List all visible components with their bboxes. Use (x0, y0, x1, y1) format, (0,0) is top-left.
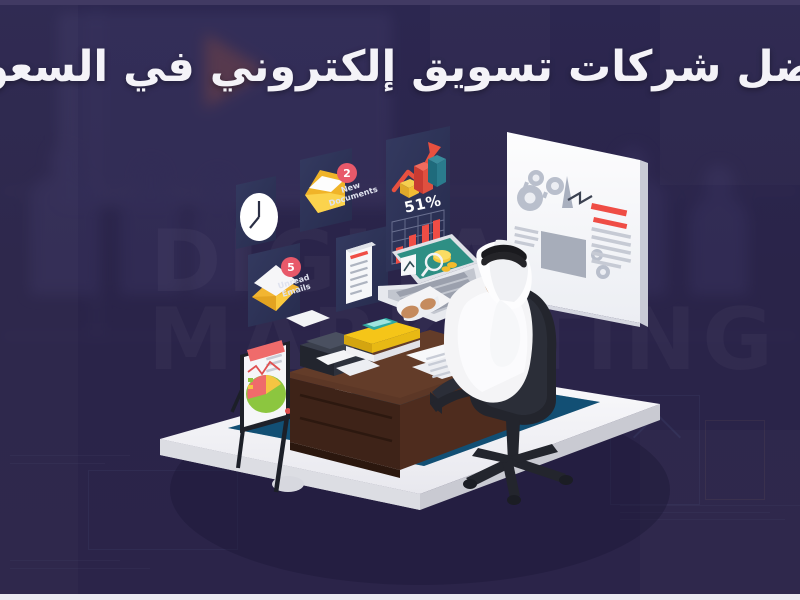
bottom-accent-band (0, 594, 800, 600)
banner-canvas: DIGITAL MARKETING أفضل شركات تسويق إلكتر… (0, 0, 800, 600)
email-badge: 5 (281, 257, 301, 277)
isometric-scene (0, 0, 800, 600)
iso-bar-teal (428, 155, 446, 187)
folder-badge: 2 (337, 163, 357, 183)
clock-icon (240, 193, 278, 241)
document-icon (346, 242, 376, 304)
